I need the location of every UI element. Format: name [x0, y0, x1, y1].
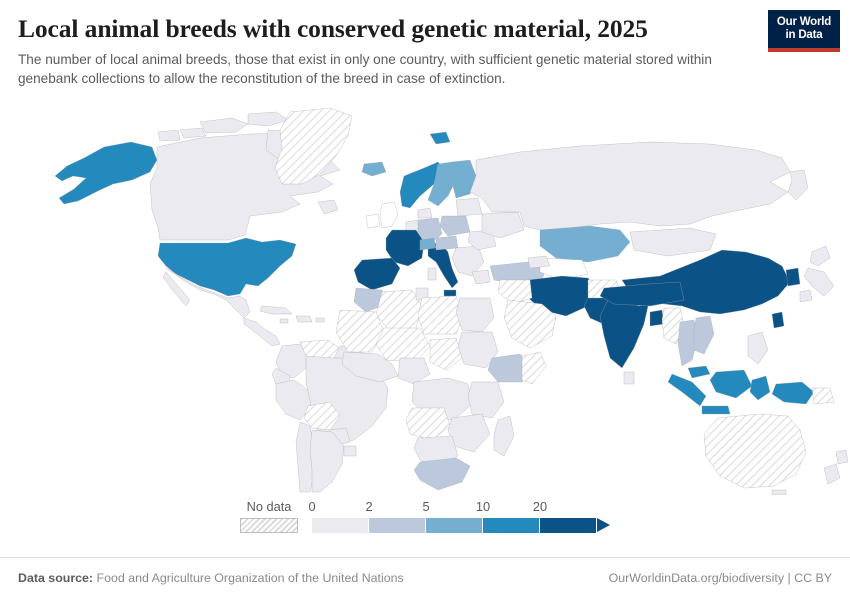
country-sulawesi[interactable]	[750, 376, 770, 400]
country-philippines[interactable]	[748, 332, 768, 364]
legend-bin-0[interactable]	[312, 518, 369, 533]
country-poland[interactable]	[440, 216, 470, 236]
legend-bin-4[interactable]	[540, 518, 597, 533]
country-west-africa-nodata[interactable]	[336, 310, 384, 352]
legend-color-bar[interactable]	[312, 518, 610, 533]
country-sri-lanka[interactable]	[624, 372, 634, 384]
country-sumatra[interactable]	[668, 374, 706, 406]
country-caucasus[interactable]	[528, 256, 550, 268]
country-kenya-tanzania[interactable]	[468, 382, 504, 418]
legend-no-data-swatch[interactable]	[240, 518, 298, 533]
country-uruguay[interactable]	[344, 446, 356, 456]
country-australia[interactable]	[704, 414, 806, 488]
legend-no-data-group[interactable]: No data	[240, 500, 298, 533]
country-austria[interactable]	[436, 236, 458, 250]
country-egypt[interactable]	[456, 298, 494, 332]
country-iraq-syria[interactable]	[498, 280, 532, 304]
legend-tick-10: 10	[476, 500, 490, 514]
page-title: Local animal breeds with conserved genet…	[18, 14, 832, 44]
country-denmark[interactable]	[418, 208, 432, 218]
country-jamaica[interactable]	[280, 319, 288, 323]
legend-inner: No data 0251020	[240, 500, 610, 533]
country-kamchatka[interactable]	[788, 170, 808, 200]
legend-no-data-label: No data	[240, 500, 298, 514]
country-nigeria[interactable]	[398, 358, 430, 384]
country-switzerland[interactable]	[420, 238, 436, 250]
country-japan-kyushu[interactable]	[800, 290, 812, 302]
world-map-svg[interactable]	[0, 100, 850, 495]
country-baltics[interactable]	[456, 198, 482, 216]
country-madagascar[interactable]	[494, 416, 514, 456]
country-alaska[interactable]	[55, 142, 157, 204]
legend-bin-1[interactable]	[369, 518, 426, 533]
country-taiwan[interactable]	[772, 312, 784, 328]
country-hispaniola[interactable]	[296, 316, 312, 322]
owid-logo-line1: Our World	[777, 16, 831, 29]
country-png-east[interactable]	[812, 388, 834, 404]
country-svalbard[interactable]	[430, 132, 450, 144]
country-new-zealand-north[interactable]	[836, 450, 848, 464]
chart-footer: Data source: Food and Agriculture Organi…	[0, 557, 850, 600]
legend-tick-20: 20	[533, 500, 547, 514]
country-sicily[interactable]	[444, 290, 456, 296]
legend-tick-2: 2	[365, 500, 372, 514]
country-canada-islands-3[interactable]	[180, 128, 206, 138]
country-cuba[interactable]	[260, 306, 292, 314]
country-canada-islands-1[interactable]	[200, 118, 248, 133]
country-angola[interactable]	[406, 408, 450, 440]
map-legend: No data 0251020	[0, 500, 850, 550]
country-borneo[interactable]	[710, 370, 752, 398]
country-tasmania[interactable]	[772, 490, 786, 495]
data-source-value: Food and Agriculture Organization of the…	[97, 571, 404, 585]
country-iceland[interactable]	[362, 162, 386, 176]
data-source-label: Data source:	[18, 571, 93, 585]
country-malaysia[interactable]	[688, 366, 710, 378]
chart-header: Local animal breeds with conserved genet…	[18, 14, 832, 100]
legend-bins-group[interactable]: 0251020	[312, 500, 610, 533]
country-algeria[interactable]	[376, 290, 422, 332]
country-spain[interactable]	[354, 258, 400, 290]
attribution-link[interactable]: OurWorldinData.org/biodiversity | CC BY	[609, 571, 832, 585]
country-canada-islands-2[interactable]	[248, 112, 288, 126]
country-puerto-rico[interactable]	[316, 318, 324, 322]
country-somalia[interactable]	[522, 352, 546, 384]
country-ireland[interactable]	[366, 214, 380, 228]
owid-logo[interactable]: Our World in Data	[768, 10, 840, 52]
world-map[interactable]	[0, 100, 850, 495]
country-sardinia[interactable]	[428, 268, 436, 280]
country-bangladesh[interactable]	[650, 310, 664, 326]
data-source: Data source: Food and Agriculture Organi…	[18, 571, 404, 585]
owid-choropleth-chart: Local animal breeds with conserved genet…	[0, 0, 850, 600]
country-chad[interactable]	[430, 338, 462, 370]
country-papua-new-guinea[interactable]	[772, 382, 814, 404]
map-countries[interactable]	[55, 108, 848, 495]
legend-bin-3[interactable]	[483, 518, 540, 533]
country-united-kingdom[interactable]	[380, 202, 398, 228]
country-sahel-nodata[interactable]	[376, 328, 430, 362]
legend-tick-5: 5	[422, 500, 429, 514]
country-greenland[interactable]	[275, 108, 352, 184]
country-india[interactable]	[600, 298, 648, 368]
country-south-korea[interactable]	[786, 268, 800, 286]
country-java[interactable]	[702, 406, 730, 414]
owid-logo-line2: in Data	[786, 29, 823, 42]
country-new-zealand[interactable]	[824, 464, 840, 484]
legend-tick-0: 0	[308, 500, 315, 514]
legend-bin-2[interactable]	[426, 518, 483, 533]
country-newfoundland[interactable]	[318, 200, 338, 214]
country-kazakhstan[interactable]	[540, 226, 630, 262]
country-japan[interactable]	[810, 246, 830, 266]
country-vietnam[interactable]	[694, 316, 714, 354]
country-mongolia[interactable]	[630, 228, 716, 256]
country-canada-islands-5[interactable]	[158, 130, 180, 141]
country-greece[interactable]	[472, 270, 490, 284]
country-central-america[interactable]	[244, 318, 280, 346]
country-ukraine[interactable]	[482, 212, 524, 238]
country-south-africa[interactable]	[414, 458, 470, 490]
chart-subtitle: The number of local animal breeds, those…	[18, 51, 743, 88]
legend-tick-labels: 0251020	[312, 500, 610, 518]
legend-overflow-arrow	[597, 518, 610, 532]
